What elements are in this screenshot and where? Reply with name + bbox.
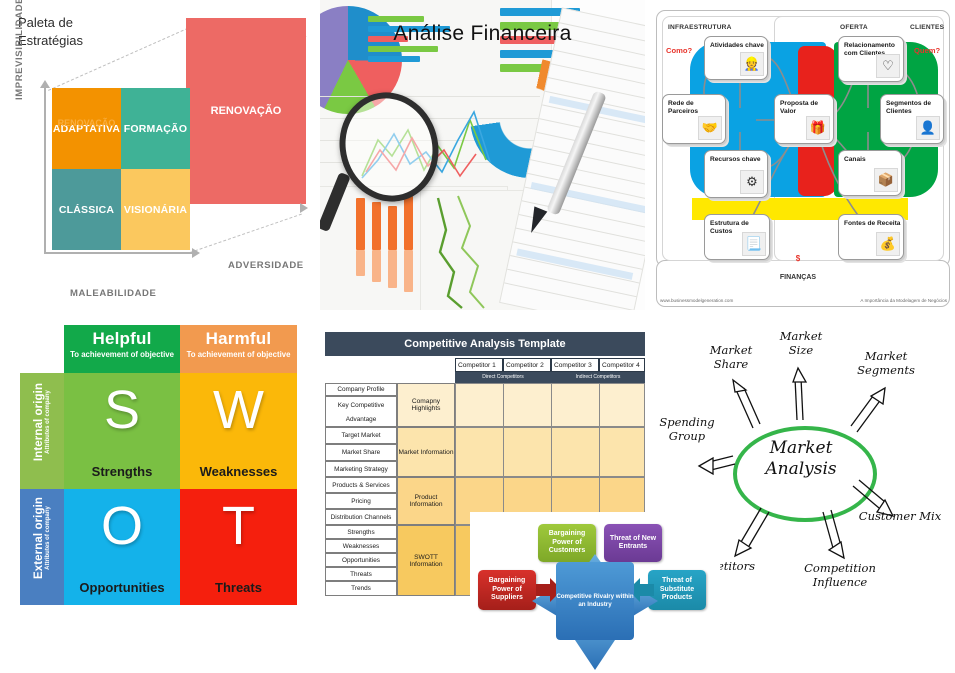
row-label: Marketing Strategy: [325, 461, 397, 477]
swot-header-harmful: Harmful To achievement of objective: [180, 325, 297, 373]
palette-cell-adaptativa: ADAPTATIVA: [52, 88, 121, 169]
column-group-direct-competitors: Direct Competitors: [455, 372, 551, 383]
palette-ghost-label: RENOVAÇÃO: [52, 118, 121, 128]
truck-icon: 📦: [874, 168, 898, 192]
person-icon: 👤: [916, 116, 940, 140]
financial-analysis-panel: Análise Financeira: [320, 0, 645, 310]
row-label: Company Profile: [325, 383, 397, 396]
row-label: Opportunities: [325, 553, 397, 567]
data-band-company-highlights: [455, 383, 645, 427]
canvas-block-atividades-chave: Atividades chave 👷: [704, 36, 768, 80]
row-group-product-information: Product Information: [397, 477, 455, 525]
canvas-connectors: [652, 2, 955, 310]
depth-axis-arrow-icon: [300, 203, 308, 213]
column-group-indirect-competitors: Indirect Competitors: [551, 372, 645, 383]
mindmap-node-competition-influence: Competition Influence: [793, 562, 887, 590]
row-label: Distribution Channels: [325, 509, 397, 525]
row-group-company-highlights: Comapny Highlights: [397, 383, 455, 427]
swot-caption-opportunities: Opportunities: [64, 580, 180, 595]
swot-letter-t: T: [180, 499, 297, 553]
strategy-palette-title: Paleta de Estratégias: [18, 14, 83, 49]
swot-caption-weaknesses: Weaknesses: [180, 464, 297, 479]
mindmap-node-market-size: Market Size: [767, 330, 835, 358]
swot-caption-strengths: Strengths: [64, 464, 180, 479]
worker-icon: 👷: [740, 52, 764, 76]
swot-quadrant-weaknesses: W Weaknesses: [180, 373, 297, 489]
swot-header-helpful: Helpful To achievement of objective: [64, 325, 180, 373]
five-forces-center-label: Competitive Rivalry within an Industry: [556, 562, 634, 640]
row-label: Target Market: [325, 427, 397, 444]
mindmap-node-customer-mix: Customer Mix: [853, 510, 947, 524]
swot-matrix-panel: Helpful To achievement of objective Harm…: [20, 325, 315, 605]
cash-icon: 💰: [876, 232, 900, 256]
swot-letter-o: O: [64, 499, 180, 553]
mindmap-node-market-segments: Market Segments: [843, 350, 929, 378]
row-label: Pricing: [325, 493, 397, 509]
mindmap-node-market-share: Market Share: [695, 344, 767, 372]
row-group-swott-information: SWOTT Information: [397, 525, 455, 596]
canvas-block-proposta-valor: Proposta de Valor 🎁: [774, 94, 834, 144]
canvas-block-segmentos-clientes: Segmentos de Clientes 👤: [880, 94, 944, 144]
canvas-block-estrutura-custos: Estrutura de Custos 📃: [704, 214, 770, 260]
swot-letter-s: S: [64, 383, 180, 437]
canvas-block-fontes-receita: Fontes de Receita 💰: [838, 214, 904, 260]
swot-side-internal: Internal origin Attributes of company: [20, 373, 64, 489]
x-axis-arrow-icon: [192, 248, 200, 258]
y-axis-arrow-icon: [40, 80, 50, 88]
machine-icon: ⚙: [740, 170, 764, 194]
row-label: Threats: [325, 567, 397, 581]
swot-letter-w: W: [180, 383, 297, 437]
row-label: Weaknesses: [325, 539, 397, 553]
swot-quadrant-strengths: S Strengths: [64, 373, 180, 489]
competitive-analysis-title: Competitive Analysis Template: [325, 332, 645, 356]
column-header-competitor-4: Competitor 4: [599, 358, 645, 372]
data-band-market-information: [455, 427, 645, 477]
mindmap-node-spending-group: Spending Group: [651, 416, 723, 444]
business-model-canvas-panel: INFRAESTRUTURA OFERTA CLIENTES Como? O q…: [652, 2, 955, 310]
swot-caption-threats: Threats: [180, 580, 297, 595]
row-label: Market Share: [325, 444, 397, 461]
canvas-block-relacionamento-clientes: Relacionamento com Clientes ♡: [838, 36, 904, 82]
column-header-competitor-2: Competitor 2: [503, 358, 551, 372]
handshake-icon: 🤝: [698, 116, 722, 140]
palette-cell-renovacao: RENOVAÇÃO: [186, 18, 306, 204]
row-label: Key Competitive Advantage: [325, 396, 397, 427]
depth-axis-label: ADVERSIDADE: [228, 260, 304, 271]
strategy-palette-panel: Paleta de Estratégias RENOVAÇÃO ADAPTATI…: [0, 0, 320, 310]
row-label: Products & Services: [325, 477, 397, 493]
financial-analysis-title: Análise Financeira: [320, 22, 645, 46]
y-axis-line: [44, 88, 46, 254]
y-axis-label: IMPREVISIBILIDADE: [14, 0, 25, 100]
x-axis-label: MALEABILIDADE: [70, 288, 156, 299]
row-group-market-information: Market Information: [397, 427, 455, 477]
row-label: Strengths: [325, 525, 397, 539]
canvas-block-canais: Canais 📦: [838, 150, 902, 196]
canvas-block-recursos-chave: Recursos chave ⚙: [704, 150, 768, 198]
row-label: Trends: [325, 581, 397, 596]
column-header-competitor-3: Competitor 3: [551, 358, 599, 372]
palette-cell-visionaria: VISIONÁRIA: [121, 169, 190, 250]
palette-grid: ADAPTATIVA RENOVAÇÃO FORMAÇÃO CLÁSSICA V…: [52, 88, 190, 250]
palette-cell-classica: CLÁSSICA: [52, 169, 121, 250]
heart-icon: ♡: [876, 54, 900, 78]
projection-line-bottom: [190, 214, 302, 253]
x-axis-line: [44, 252, 194, 254]
canvas-block-rede-parceiros: Rede de Parceiros 🤝: [662, 94, 726, 144]
swot-side-external: External origin Attributes of company: [20, 489, 64, 605]
gift-icon: 🎁: [806, 116, 830, 140]
palette-cell-formacao: FORMAÇÃO: [121, 88, 190, 169]
column-header-competitor-1: Competitor 1: [455, 358, 503, 372]
swot-quadrant-opportunities: O Opportunities: [64, 489, 180, 605]
swot-quadrant-threats: T Threats: [180, 489, 297, 605]
invoice-icon: 📃: [742, 232, 766, 256]
five-forces-panel: Bargaining Power of Customers Threat of …: [470, 512, 720, 673]
